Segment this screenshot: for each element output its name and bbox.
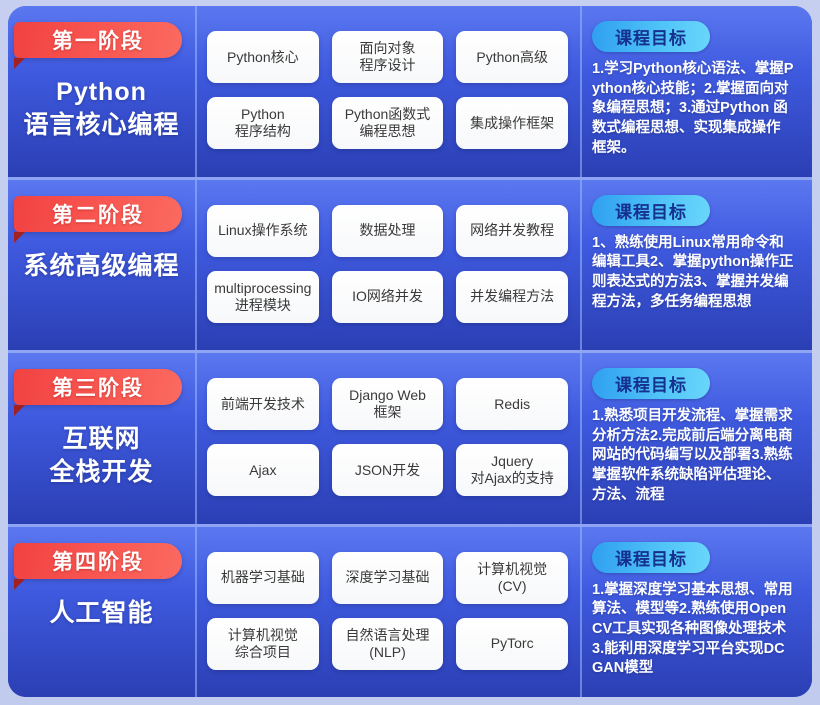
ribbon-fold-icon-2 — [14, 232, 25, 243]
stage-ribbon-wrap-4: 第四阶段 — [8, 543, 195, 583]
goal-description: 1.学习Python核心语法、掌握Python核心技能；2.掌握面向对象编程思想… — [592, 60, 794, 159]
course-card-line: 综合项目 — [228, 644, 298, 661]
stage-title-line: 系统高级编程 — [16, 250, 187, 283]
course-card-line: 框架 — [349, 404, 426, 421]
ribbon-fold-icon-4 — [14, 579, 25, 590]
course-card-line: 进程模块 — [214, 297, 311, 314]
course-card[interactable]: Python函数式 编程思想 — [332, 97, 444, 149]
course-card[interactable]: 自然语言处理 (NLP) — [332, 618, 444, 670]
stage-ribbon-label-1: 第一阶段 — [52, 25, 144, 55]
goal-badge-label: 课程目标 — [615, 24, 687, 49]
goal-badge-label: 课程目标 — [615, 545, 687, 570]
curriculum-panel: 第一阶段 Python 语言核心编程 Python核心 面向对象 — [8, 6, 812, 697]
course-card-line: Linux操作系统 — [218, 222, 307, 239]
stage-goal-2: 课程目标 1、熟练使用Linux常用命令和编辑工具2、掌握python操作正则表… — [580, 180, 812, 351]
stage-row-1: 第一阶段 Python 语言核心编程 Python核心 面向对象 — [8, 6, 812, 177]
stage-title-3: 互联网 全栈开发 — [8, 423, 195, 489]
stage-ribbon-label-3: 第三阶段 — [52, 372, 144, 402]
course-card-line: 面向对象 — [360, 40, 416, 57]
course-card[interactable]: PyTorc — [456, 618, 568, 670]
stage-courses-4: 机器学习基础 深度学习基础 计算机视觉 (CV) — [195, 527, 580, 698]
course-card-line: 程序结构 — [235, 123, 291, 140]
course-card[interactable]: 面向对象 程序设计 — [332, 31, 444, 83]
course-card[interactable]: 集成操作框架 — [456, 97, 568, 149]
stage-ribbon-wrap-1: 第一阶段 — [8, 22, 195, 62]
course-card[interactable]: Linux操作系统 — [207, 205, 319, 257]
course-card[interactable]: Python 程序结构 — [207, 97, 319, 149]
course-card-line: 并发编程方法 — [470, 288, 554, 305]
goal-description: 1.掌握深度学习基本思想、常用算法、模型等2.熟练使用OpenCV工具实现各种图… — [592, 581, 794, 680]
stage-left-column-3: 第三阶段 互联网 全栈开发 — [8, 353, 195, 524]
course-row: Python核心 面向对象 程序设计 Python高级 — [207, 31, 568, 83]
course-card[interactable]: IO网络并发 — [332, 271, 444, 323]
goal-badge-label: 课程目标 — [615, 198, 687, 223]
stage-title-line: 人工智能 — [16, 597, 187, 630]
stage-goal-3: 课程目标 1.熟悉项目开发流程、掌握需求分析方法2.完成前后端分离电商网站的代码… — [580, 353, 812, 524]
goal-badge: 课程目标 — [592, 368, 710, 399]
course-card-line: 集成操作框架 — [470, 115, 554, 132]
goal-description: 1.熟悉项目开发流程、掌握需求分析方法2.完成前后端分离电商网站的代码编写以及部… — [592, 407, 794, 506]
goal-badge-label: 课程目标 — [615, 371, 687, 396]
course-card[interactable]: 机器学习基础 — [207, 552, 319, 604]
stage-ribbon-wrap-2: 第二阶段 — [8, 196, 195, 236]
course-card[interactable]: multiprocessing 进程模块 — [207, 271, 319, 323]
course-card-line: Python核心 — [227, 49, 299, 66]
stage-title-line: 互联网 — [16, 423, 187, 456]
stage-ribbon-4: 第四阶段 — [14, 543, 182, 579]
course-card[interactable]: 网络并发教程 — [456, 205, 568, 257]
stage-left-column-4: 第四阶段 人工智能 — [8, 527, 195, 698]
course-card[interactable]: 计算机视觉 综合项目 — [207, 618, 319, 670]
course-card-line: (NLP) — [346, 644, 430, 661]
stage-row-3: 第三阶段 互联网 全栈开发 前端开发技术 Django Web — [8, 350, 812, 524]
goal-badge: 课程目标 — [592, 195, 710, 226]
course-card[interactable]: Redis — [456, 378, 568, 430]
stage-row-4: 第四阶段 人工智能 机器学习基础 深度学习基础 — [8, 524, 812, 698]
course-card[interactable]: Ajax — [207, 444, 319, 496]
stage-left-column-1: 第一阶段 Python 语言核心编程 — [8, 6, 195, 177]
course-card-line: Jquery — [471, 453, 554, 470]
course-card-line: JSON开发 — [355, 462, 420, 479]
course-card-line: 网络并发教程 — [470, 222, 554, 239]
stage-title-line: Python — [16, 76, 187, 109]
course-card[interactable]: Python核心 — [207, 31, 319, 83]
course-card[interactable]: 并发编程方法 — [456, 271, 568, 323]
course-card-line: 数据处理 — [360, 222, 416, 239]
stage-title-2: 系统高级编程 — [8, 250, 195, 283]
stage-ribbon-wrap-3: 第三阶段 — [8, 369, 195, 409]
stage-ribbon-3: 第三阶段 — [14, 369, 182, 405]
course-card-line: Django Web — [349, 387, 426, 404]
stage-ribbon-1: 第一阶段 — [14, 22, 182, 58]
course-row: Ajax JSON开发 Jquery 对Ajax的支持 — [207, 444, 568, 496]
stage-title-line: 全栈开发 — [16, 456, 187, 489]
goal-description: 1、熟练使用Linux常用命令和编辑工具2、掌握python操作正则表达式的方法… — [592, 234, 794, 313]
course-card-line: Ajax — [249, 462, 276, 479]
course-card-line: Python函数式 — [345, 106, 431, 123]
page-root: 第一阶段 Python 语言核心编程 Python核心 面向对象 — [0, 0, 820, 705]
stage-courses-3: 前端开发技术 Django Web 框架 Redis Ajax — [195, 353, 580, 524]
course-card-line: 计算机视觉 — [477, 561, 547, 578]
course-card[interactable]: Jquery 对Ajax的支持 — [456, 444, 568, 496]
course-row: multiprocessing 进程模块 IO网络并发 并发编程方法 — [207, 271, 568, 323]
course-card[interactable]: Django Web 框架 — [332, 378, 444, 430]
course-card-line: 编程思想 — [345, 123, 431, 140]
course-row: Linux操作系统 数据处理 网络并发教程 — [207, 205, 568, 257]
course-card-line: PyTorc — [491, 635, 534, 652]
course-card[interactable]: 深度学习基础 — [332, 552, 444, 604]
course-card[interactable]: Python高级 — [456, 31, 568, 83]
course-card-line: Redis — [494, 396, 530, 413]
course-card-line: 计算机视觉 — [228, 627, 298, 644]
ribbon-fold-icon-3 — [14, 405, 25, 416]
course-card[interactable]: JSON开发 — [332, 444, 444, 496]
course-card[interactable]: 数据处理 — [332, 205, 444, 257]
course-card-line: 程序设计 — [360, 57, 416, 74]
stage-ribbon-label-2: 第二阶段 — [52, 199, 144, 229]
course-card-line: 深度学习基础 — [346, 569, 430, 586]
goal-badge: 课程目标 — [592, 21, 710, 52]
course-card-line: multiprocessing — [214, 280, 311, 297]
course-card[interactable]: 计算机视觉 (CV) — [456, 552, 568, 604]
course-card-line: 自然语言处理 — [346, 627, 430, 644]
course-row: 机器学习基础 深度学习基础 计算机视觉 (CV) — [207, 552, 568, 604]
course-card-line: 机器学习基础 — [221, 569, 305, 586]
stage-goal-1: 课程目标 1.学习Python核心语法、掌握Python核心技能；2.掌握面向对… — [580, 6, 812, 177]
course-card[interactable]: 前端开发技术 — [207, 378, 319, 430]
course-row: 前端开发技术 Django Web 框架 Redis — [207, 378, 568, 430]
course-card-line: IO网络并发 — [352, 288, 423, 305]
stage-left-column-2: 第二阶段 系统高级编程 — [8, 180, 195, 351]
course-card-line: Python高级 — [476, 49, 548, 66]
stage-title-4: 人工智能 — [8, 597, 195, 630]
course-card-line: Python — [235, 106, 291, 123]
stage-title-line: 语言核心编程 — [16, 109, 187, 142]
stage-row-2: 第二阶段 系统高级编程 Linux操作系统 数据处理 — [8, 177, 812, 351]
stage-ribbon-label-4: 第四阶段 — [52, 546, 144, 576]
stage-ribbon-2: 第二阶段 — [14, 196, 182, 232]
course-card-line: 前端开发技术 — [221, 396, 305, 413]
stage-title-1: Python 语言核心编程 — [8, 76, 195, 142]
stage-goal-4: 课程目标 1.掌握深度学习基本思想、常用算法、模型等2.熟练使用OpenCV工具… — [580, 527, 812, 698]
goal-badge: 课程目标 — [592, 542, 710, 573]
course-card-line: 对Ajax的支持 — [471, 470, 554, 487]
course-row: Python 程序结构 Python函数式 编程思想 集成操作框架 — [207, 97, 568, 149]
course-card-line: (CV) — [477, 578, 547, 595]
stage-courses-2: Linux操作系统 数据处理 网络并发教程 multiprocessing 进程… — [195, 180, 580, 351]
course-row: 计算机视觉 综合项目 自然语言处理 (NLP) PyTorc — [207, 618, 568, 670]
stage-courses-1: Python核心 面向对象 程序设计 Python高级 — [195, 6, 580, 177]
ribbon-fold-icon-1 — [14, 58, 25, 69]
